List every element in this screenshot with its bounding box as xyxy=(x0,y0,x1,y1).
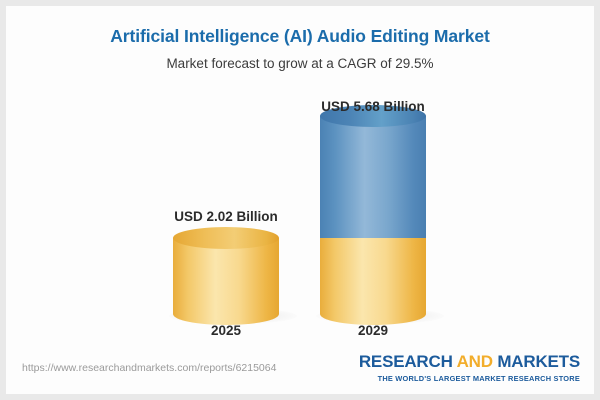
bar-2025-yellow-body xyxy=(173,238,279,314)
logo-wordmark: RESEARCH AND MARKETS xyxy=(359,352,580,372)
bar-2029[interactable] xyxy=(320,116,426,314)
source-url[interactable]: https://www.researchandmarkets.com/repor… xyxy=(22,362,276,374)
logo-word-and: AND xyxy=(457,352,493,371)
plot-area: USD 2.02 Billion 2025 USD 5.68 Billion 2… xyxy=(6,6,594,346)
bar-2029-blue-segment xyxy=(320,116,426,238)
bar-2025-value-label: USD 2.02 Billion xyxy=(96,209,356,224)
footer: https://www.researchandmarkets.com/repor… xyxy=(6,346,594,394)
logo-word-markets: MARKETS xyxy=(497,352,580,371)
logo-tagline: THE WORLD'S LARGEST MARKET RESEARCH STOR… xyxy=(359,374,580,383)
bar-2029-yellow-segment xyxy=(320,238,426,314)
bar-2029-category-label: 2029 xyxy=(293,323,453,338)
bar-2029-value-label: USD 5.68 Billion xyxy=(243,99,503,114)
bar-2025-top-ellipse xyxy=(173,227,279,249)
chart-card: Artificial Intelligence (AI) Audio Editi… xyxy=(6,6,594,394)
research-and-markets-logo[interactable]: RESEARCH AND MARKETS THE WORLD'S LARGEST… xyxy=(359,352,580,383)
bar-2025-category-label: 2025 xyxy=(146,323,306,338)
logo-word-research: RESEARCH xyxy=(359,352,453,371)
bar-2025[interactable] xyxy=(173,238,279,314)
